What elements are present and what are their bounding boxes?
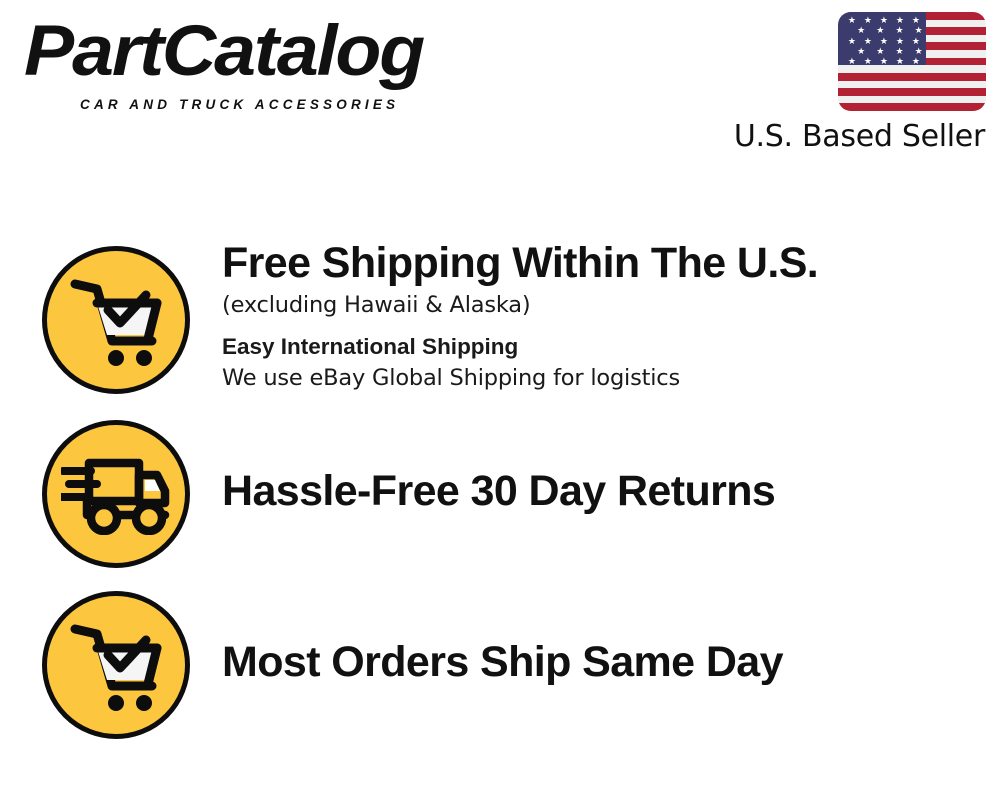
feature-row: Most Orders Ship Same Day	[0, 591, 1000, 743]
feature-row: Free Shipping Within The U.S. (excluding…	[0, 246, 1000, 416]
feature-title: Most Orders Ship Same Day	[222, 639, 982, 685]
feature-title: Free Shipping Within The U.S.	[222, 240, 982, 286]
delivery-truck-icon	[42, 420, 190, 568]
feature-list: Free Shipping Within The U.S. (excluding…	[0, 0, 1000, 800]
feature-row: Hassle-Free 30 Day Returns	[0, 420, 1000, 572]
feature-title: Hassle-Free 30 Day Returns	[222, 468, 982, 514]
feature-subtitle: (excluding Hawaii & Alaska)	[222, 290, 982, 320]
feature-subtitle: We use eBay Global Shipping for logistic…	[222, 363, 982, 393]
feature-subtitle-bold: Easy International Shipping	[222, 332, 982, 362]
feature-text: Most Orders Ship Same Day	[222, 639, 982, 685]
shopping-cart-check-icon	[42, 246, 190, 394]
feature-text: Hassle-Free 30 Day Returns	[222, 468, 982, 514]
feature-text: Free Shipping Within The U.S. (excluding…	[222, 246, 982, 394]
shopping-cart-check-icon	[42, 591, 190, 739]
